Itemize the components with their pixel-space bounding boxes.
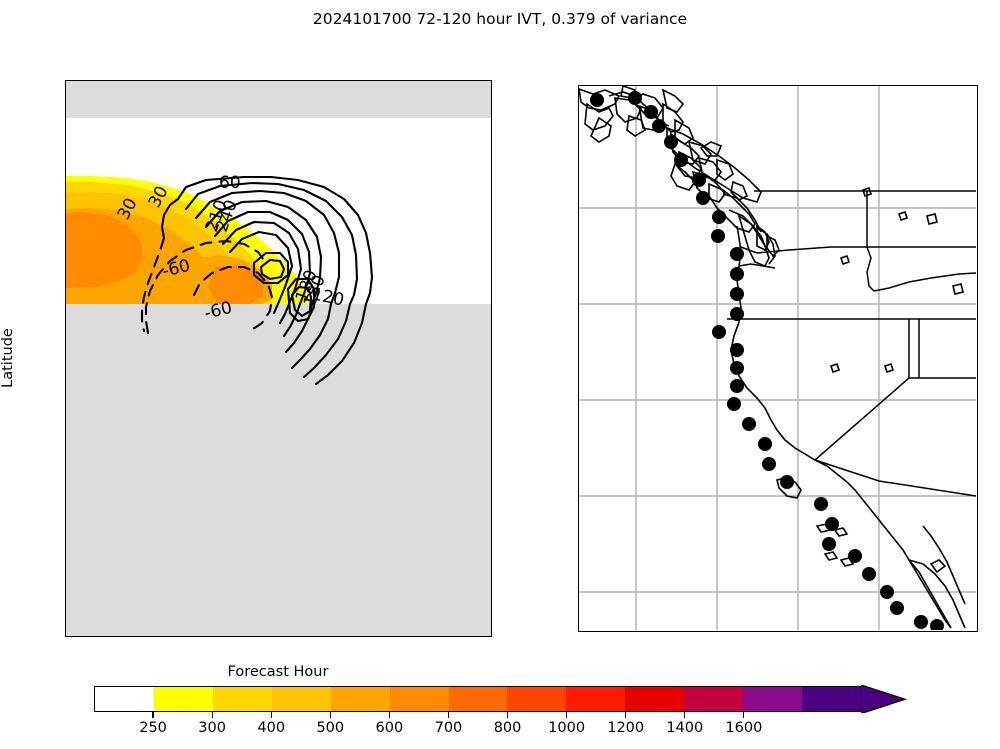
- colorbar-tick-1200: [625, 712, 626, 718]
- y-tick-45: [65, 267, 66, 268]
- ivt-colorbar: 2503004005006007008001000120014001600: [94, 686, 906, 712]
- colorbar-segment-11: [743, 687, 802, 711]
- colorbar-segment-7: [507, 687, 566, 711]
- colorbar-tick-800: [507, 712, 508, 718]
- hovmoller-plot-area: 30 30 60 -60 -60 150 180 210 240 120: [66, 81, 491, 636]
- x-axis-label: Forecast Hour: [228, 664, 329, 680]
- colorbar-tick-label-1200: 1200: [607, 720, 644, 736]
- x-tick-96: [280, 636, 281, 637]
- contour-label-neg60b: -60: [202, 298, 234, 324]
- coastline: [579, 86, 965, 628]
- x-tick-72: [66, 636, 67, 637]
- colorbar-tick-label-800: 800: [494, 720, 522, 736]
- hovmoller-eof-panel: 30 30 60 -60 -60 150 180 210 240 120 55 …: [65, 80, 492, 637]
- colorbar-tick-400: [271, 712, 272, 718]
- colorbar-tick-300: [212, 712, 213, 718]
- colorbar-segment-12: [802, 687, 861, 711]
- station-markers: [590, 91, 944, 630]
- colorbar-tick-600: [389, 712, 390, 718]
- colorbar-tick-label-400: 400: [257, 720, 285, 736]
- colorbar-tick-700: [448, 712, 449, 718]
- page-title: 2024101700 72-120 hour IVT, 0.379 of var…: [0, 10, 1000, 28]
- colorbar-segment-1: [154, 687, 213, 711]
- colorbar-tick-label-1400: 1400: [666, 720, 703, 736]
- map-gridlines: [579, 86, 976, 630]
- colorbar-segment-2: [213, 687, 272, 711]
- y-tick-30: [65, 545, 66, 546]
- contour-60-outer: [178, 177, 372, 304]
- colorbar-tick-label-250: 250: [139, 720, 167, 736]
- colorbar-segment-9: [625, 687, 684, 711]
- colorbar-tick-label-700: 700: [435, 720, 463, 736]
- y-tick-40: [65, 360, 66, 361]
- colorbar-segment-10: [684, 687, 743, 711]
- contour-labels: 30 30 60 -60 -60 150 180 210 240 120: [114, 173, 346, 324]
- colorbar-tick-label-600: 600: [376, 720, 404, 736]
- colorbar-extend-arrow: [861, 685, 907, 714]
- y-tick-35: [65, 452, 66, 453]
- y-axis-label: Latitude: [0, 328, 16, 388]
- map-svg: [579, 86, 976, 630]
- y-tick-50: [65, 174, 66, 175]
- x-tick-84: [173, 636, 174, 637]
- colorbar-tick-250: [152, 712, 153, 718]
- colorbar-tick-1400: [684, 712, 685, 718]
- colorbar-segment-0: [95, 687, 154, 711]
- contour-label-60: 60: [219, 173, 241, 193]
- colorbar-segment-4: [331, 687, 390, 711]
- colorbar-segment-8: [566, 687, 625, 711]
- colorbar-tick-label-500: 500: [316, 720, 344, 736]
- x-tick-108: [386, 636, 387, 637]
- colorbar-tick-label-1600: 1600: [725, 720, 762, 736]
- y-tick-55: [65, 81, 66, 82]
- colorbar-segment-5: [390, 687, 449, 711]
- eof-loading-contours: 30 30 60 -60 -60 150 180 210 240 120: [66, 81, 492, 637]
- colorbar-tick-500: [330, 712, 331, 718]
- colorbar-segment-6: [449, 687, 508, 711]
- colorbar-body: [94, 686, 862, 712]
- contour-label-neg60a: -60: [160, 256, 192, 282]
- contour-label-30a: 30: [114, 195, 142, 223]
- station-location-map: [578, 85, 978, 632]
- colorbar-tick-1600: [743, 712, 744, 718]
- colorbar-tick-label-300: 300: [198, 720, 226, 736]
- colorbar-tick-label-1000: 1000: [548, 720, 585, 736]
- colorbar-tick-1000: [566, 712, 567, 718]
- colorbar-segment-3: [272, 687, 331, 711]
